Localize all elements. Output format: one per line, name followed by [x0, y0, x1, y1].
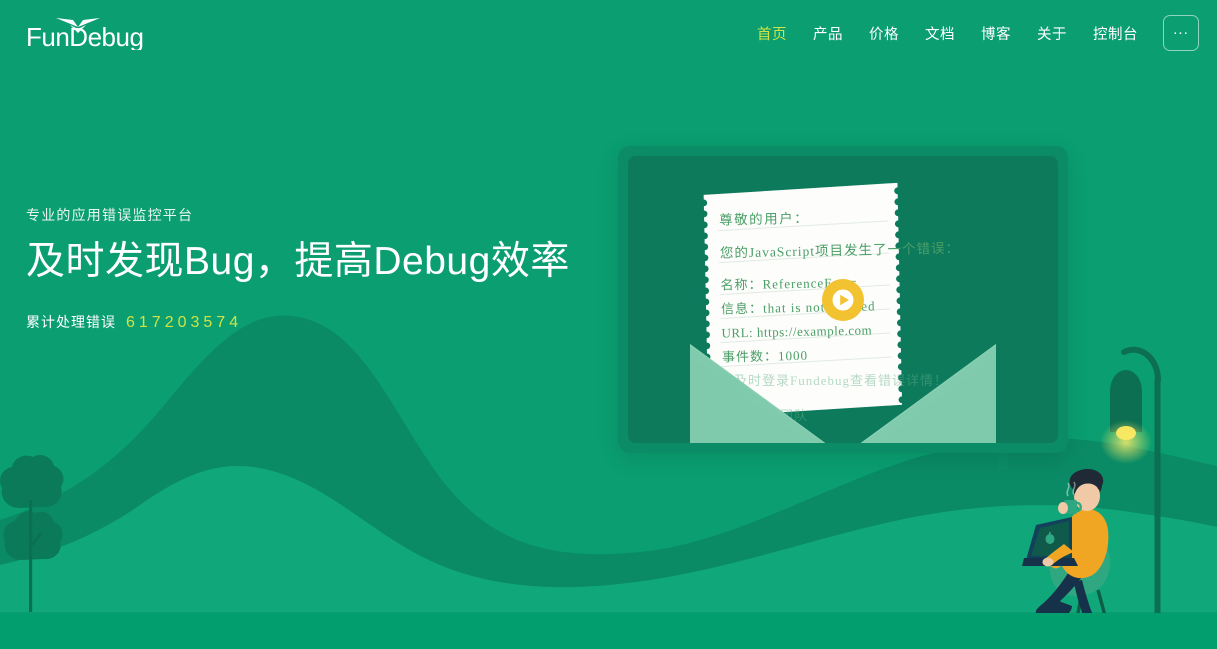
fundebug-bird-logo: FunDebug [26, 14, 144, 50]
play-button[interactable] [821, 278, 865, 322]
error-counter-label: 累计处理错误 [26, 312, 116, 332]
floor-lamp-shape [1100, 350, 1161, 613]
nav-item-product[interactable]: 产品 [800, 17, 856, 50]
nav-item-about[interactable]: 关于 [1024, 17, 1080, 50]
hero-kicker: 专业的应用错误监控平台 [26, 205, 570, 225]
error-counter-value: 617203574 [126, 314, 242, 332]
hero-title: 及时发现Bug，提高Debug效率 [26, 241, 570, 284]
site-header: FunDebug 首页 产品 价格 文档 博客 关于 控制台 ... [0, 0, 1217, 66]
hero-copy: 专业的应用错误监控平台 及时发现Bug，提高Debug效率 累计处理错误 617… [26, 205, 570, 332]
landing-page: FunDebug 首页 产品 价格 文档 博客 关于 控制台 ... 专业的应用… [0, 0, 1217, 649]
svg-text:事件数：1000: 事件数：1000 [722, 348, 808, 365]
promo-video-card[interactable]: 尊敬的用户： 您的JavaScript项目发生了一个错误： 名称：Referen… [618, 146, 1068, 453]
svg-text:FunDebug: FunDebug [26, 22, 143, 50]
svg-text:请及时登录Fundebug查看错误详情！: 请及时登录Fundebug查看错误详情！ [720, 373, 948, 388]
nav-item-console[interactable]: 控制台 [1080, 17, 1151, 50]
tree-shape [0, 455, 63, 612]
brand-logo[interactable]: FunDebug [26, 14, 144, 54]
play-button-icon [821, 278, 865, 322]
nav-item-blog[interactable]: 博客 [968, 17, 1024, 50]
main-navigation: 首页 产品 价格 文档 博客 关于 控制台 ... [744, 15, 1199, 51]
svg-text:尊敬的用户：: 尊敬的用户： [719, 210, 809, 228]
nav-item-docs[interactable]: 文档 [912, 17, 968, 50]
svg-text:URL: https://example.com: URL: https://example.com [721, 322, 872, 340]
error-counter: 累计处理错误 617203574 [26, 312, 570, 332]
nav-item-home[interactable]: 首页 [744, 17, 800, 50]
more-menu-button[interactable]: ... [1163, 15, 1199, 51]
bottom-band [0, 613, 1217, 649]
nav-item-pricing[interactable]: 价格 [856, 17, 912, 50]
